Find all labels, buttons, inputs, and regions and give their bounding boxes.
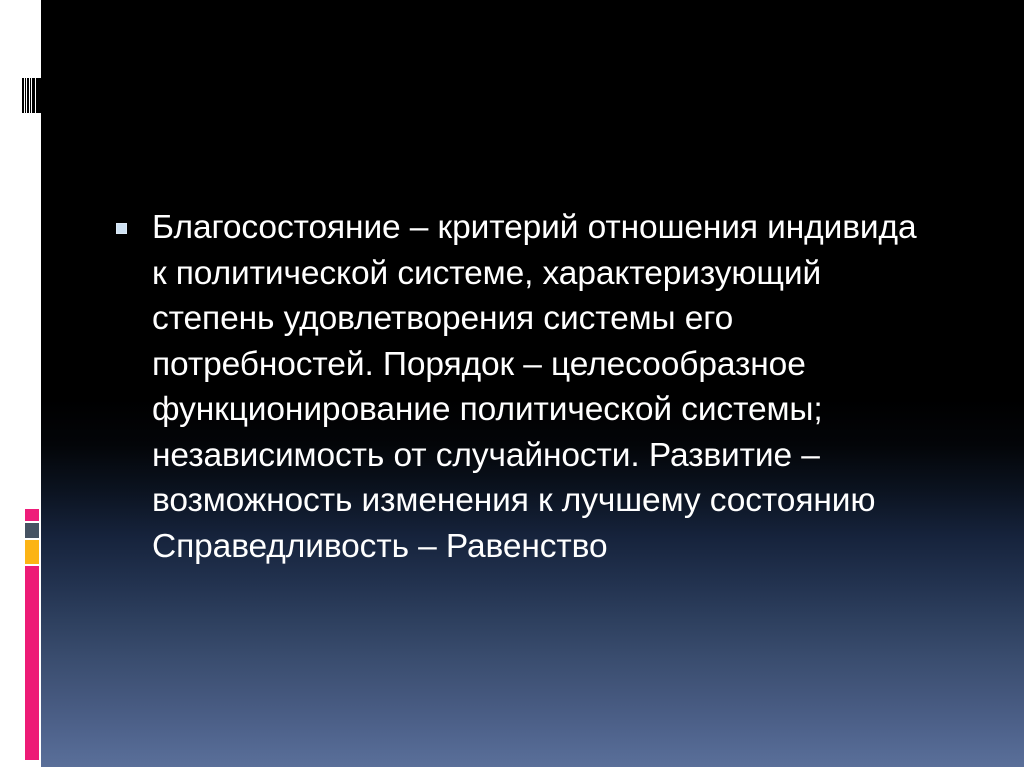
slide-body-content: Благосостояние – критерий отношения инди… bbox=[116, 205, 936, 569]
barcode-stripe-0 bbox=[22, 78, 24, 113]
barcode-icon bbox=[21, 78, 41, 113]
accent-bar-pink-top bbox=[25, 509, 39, 521]
barcode-stripe-4 bbox=[32, 78, 35, 113]
barcode-stripe-5 bbox=[36, 78, 41, 113]
accent-bar-slate bbox=[25, 523, 39, 538]
bullet-square-icon bbox=[116, 223, 127, 234]
accent-bar-amber bbox=[25, 540, 39, 564]
presentation-slide: Благосостояние – критерий отношения инди… bbox=[0, 0, 1024, 767]
barcode-stripe-2 bbox=[27, 78, 29, 113]
bullet-list-item: Благосостояние – критерий отношения инди… bbox=[116, 205, 936, 569]
accent-bar-pink-long bbox=[25, 566, 39, 760]
barcode-stripe-1 bbox=[25, 78, 26, 113]
bullet-item-text: Благосостояние – критерий отношения инди… bbox=[152, 205, 936, 569]
barcode-stripe-3 bbox=[30, 78, 31, 113]
